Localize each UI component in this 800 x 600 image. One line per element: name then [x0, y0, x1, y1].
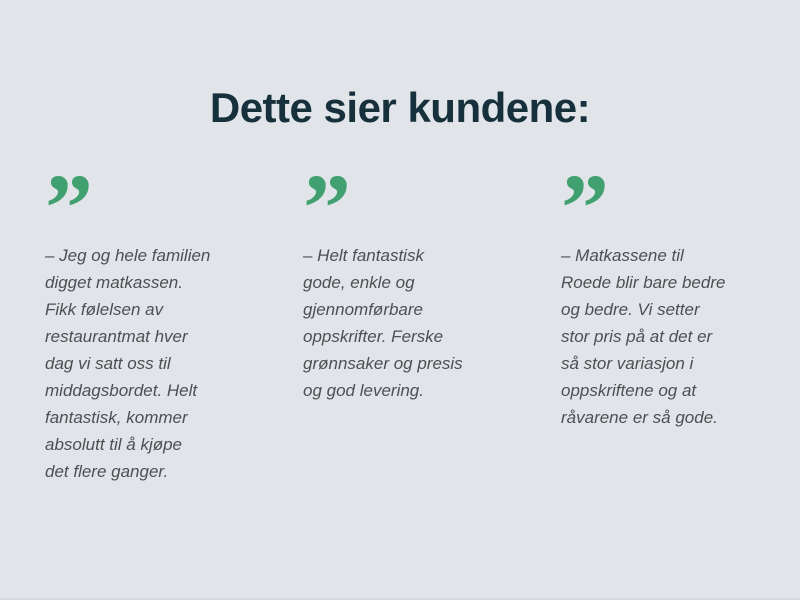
testimonial-card: ” – Matkassene til Roede blir bare bedre… [561, 178, 755, 431]
testimonial-text: – Jeg og hele familien digget matkassen.… [45, 242, 239, 485]
testimonial-card: ” – Jeg og hele familien digget matkasse… [45, 178, 239, 485]
testimonial-card: ” – Helt fantastisk gode, enkle og gjenn… [303, 178, 497, 404]
testimonial-text: – Helt fantastisk gode, enkle og gjennom… [303, 242, 497, 404]
testimonial-list: ” – Jeg og hele familien digget matkasse… [45, 178, 755, 485]
quote-mark-icon: ” [45, 178, 239, 230]
page-title: Dette sier kundene: [0, 84, 800, 132]
quote-mark-icon: ” [561, 178, 755, 230]
testimonial-text: – Matkassene til Roede blir bare bedre o… [561, 242, 755, 431]
testimonials-slide: Dette sier kundene: ” – Jeg og hele fami… [0, 0, 800, 600]
quote-mark-icon: ” [303, 178, 497, 230]
